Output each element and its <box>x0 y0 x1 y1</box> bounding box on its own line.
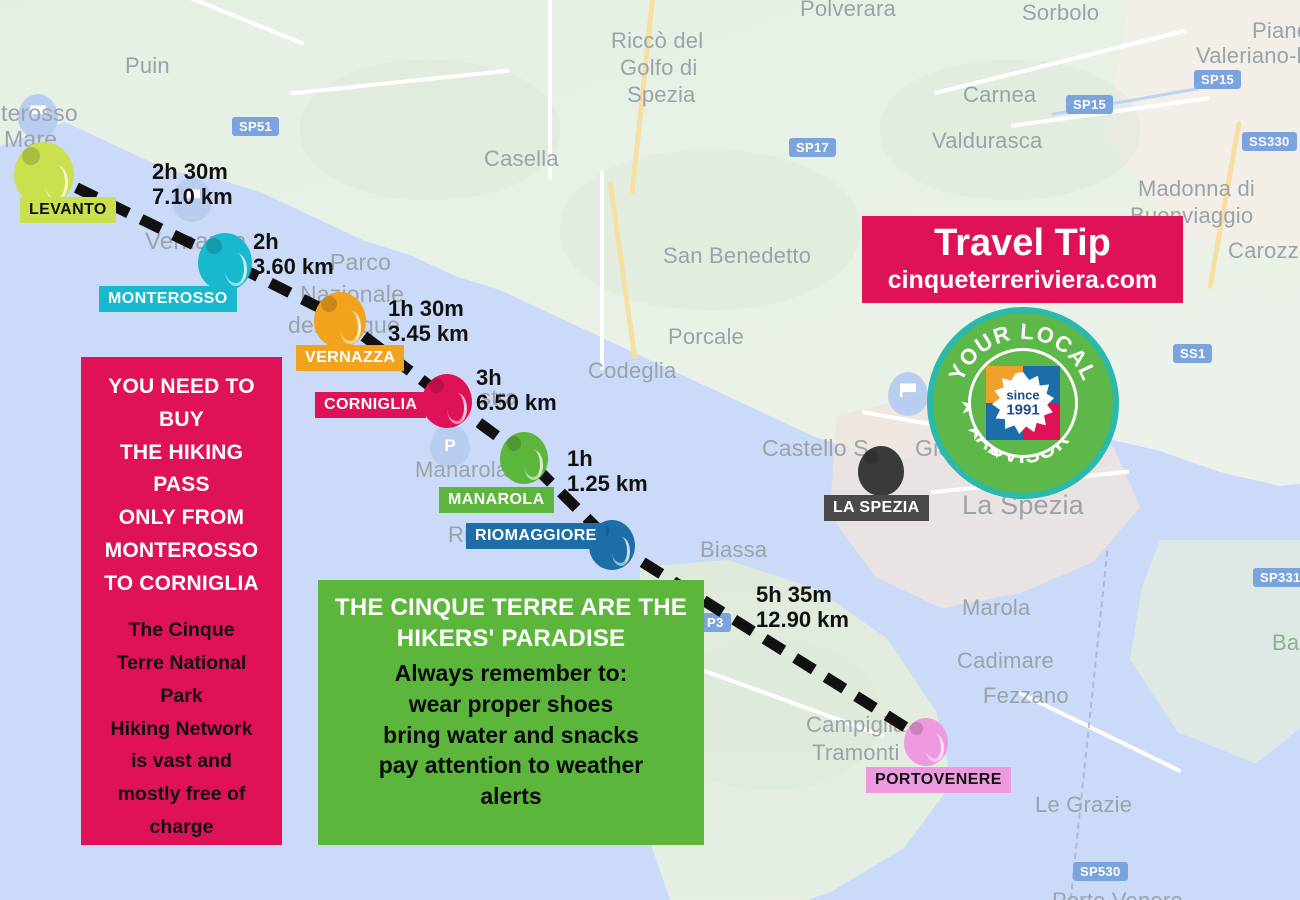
map-place-label: Piano <box>1252 18 1300 44</box>
road-shield: P3 <box>700 613 731 632</box>
town-marker-corniglia[interactable] <box>422 374 472 428</box>
hiking-pass-heading-line: YOU NEED TO <box>91 371 272 404</box>
poi-marker-icon <box>888 372 928 416</box>
hiking-pass-body-line: is vast and <box>91 745 272 778</box>
leg-distance-label: 3h6.50 km <box>476 366 557 415</box>
la-spezia-label[interactable]: LA SPEZIA <box>824 495 929 521</box>
marker-gloss <box>429 378 444 393</box>
leg-distance-label: 2h3.60 km <box>253 230 334 279</box>
map-place-label: Campiglia <box>806 712 906 738</box>
hill-shading-1 <box>560 150 860 310</box>
road-shield: SS1 <box>1173 344 1212 363</box>
hikers-paradise-heading: THE CINQUE TERRE ARE THEHIKERS' PARADISE <box>326 593 696 654</box>
marker-shine <box>926 734 944 762</box>
road-shield: SP530 <box>1073 862 1128 881</box>
la-spezia-marker[interactable] <box>858 446 904 496</box>
travel-tip-box[interactable]: Travel Tip cinqueterreriviera.com <box>862 216 1183 303</box>
hikers-paradise-body-line: Always remember to: <box>326 658 696 689</box>
marker-shine <box>45 165 68 201</box>
leg-distance: 12.90 km <box>756 608 849 633</box>
marker-shine <box>340 311 361 343</box>
hill-shading-2 <box>300 60 560 200</box>
travel-tip-title: Travel Tip <box>868 224 1177 263</box>
map-place-label: nterosso <box>0 100 78 127</box>
leg-distance-label: 5h 35m12.90 km <box>756 583 849 632</box>
map-place-label: Parco <box>330 249 391 276</box>
map-place-label: Codeglia <box>588 358 676 384</box>
town-label-portovenere[interactable]: PORTOVENERE <box>866 767 1011 793</box>
road-shield: SS330 <box>1242 132 1297 151</box>
hikers-paradise-body-line: bring water and snacks <box>326 720 696 751</box>
map-place-label: Spezia <box>627 82 695 108</box>
hiking-pass-heading-line: PASS <box>91 469 272 502</box>
map-place-label: Puin <box>125 53 170 79</box>
road-shield: SP51 <box>232 117 279 136</box>
leg-distance-label: 1h1.25 km <box>567 447 648 496</box>
map-place-label: Casella <box>484 146 559 172</box>
hikers-paradise-body: Always remember to:wear proper shoesbrin… <box>326 658 696 811</box>
leg-distance: 3.45 km <box>388 322 469 347</box>
leg-time: 1h <box>567 447 648 472</box>
marker-gloss <box>22 147 40 165</box>
hiking-pass-body-line: The Cinque <box>91 614 272 647</box>
map-place-label: Castello S. <box>762 435 875 462</box>
map-place-label: Manarola <box>415 457 508 483</box>
badge-since-label: since <box>1006 388 1039 402</box>
map-place-label: Fezzano <box>983 683 1069 709</box>
marker-gloss <box>910 722 923 735</box>
town-label-monterosso[interactable]: MONTEROSSO <box>99 286 237 312</box>
map-place-label: Polverara <box>800 0 896 22</box>
badge-since-text: since 1991 <box>1006 388 1039 417</box>
map-place-label: Le Grazie <box>1035 792 1132 818</box>
hikers-paradise-box: THE CINQUE TERRE ARE THEHIKERS' PARADISE… <box>318 580 704 845</box>
town-label-manarola[interactable]: MANAROLA <box>439 487 554 513</box>
marker-gloss <box>321 296 337 312</box>
hikers-paradise-body-line: alerts <box>326 781 696 812</box>
hiking-pass-heading-line: THE HIKING <box>91 437 272 470</box>
road-shield: SP15 <box>1194 70 1241 89</box>
hiking-pass-body: The CinqueTerre NationalParkHiking Netwo… <box>91 614 272 843</box>
hiking-pass-body-line: charge <box>91 811 272 844</box>
map-place-label: La Spezia <box>962 490 1084 521</box>
leg-distance: 1.25 km <box>567 472 648 497</box>
hiking-pass-heading-line: MONTEROSSO <box>91 535 272 568</box>
badge-since-year: 1991 <box>1006 402 1039 418</box>
hiking-pass-body-line: Terre National <box>91 647 272 680</box>
town-marker-monterosso[interactable] <box>198 233 252 291</box>
leg-time: 5h 35m <box>756 583 849 608</box>
map-place-label: Riccò del <box>611 28 703 54</box>
hiking-pass-heading-line: ONLY FROM <box>91 502 272 535</box>
badge-inner-circle: since 1991 <box>971 351 1075 455</box>
marker-gloss <box>507 436 521 451</box>
hiking-pass-body-line: Park <box>91 680 272 713</box>
leg-distance-label: 1h 30m3.45 km <box>388 297 469 346</box>
your-local-advisor-badge[interactable]: YOUR LOCAL ADVISOR ★ ★ ★ since 1991 <box>933 313 1113 493</box>
hiking-pass-heading: YOU NEED TOBUYTHE HIKINGPASSONLY FROMMON… <box>91 371 272 600</box>
hiking-pass-info-box: YOU NEED TOBUYTHE HIKINGPASSONLY FROMMON… <box>81 357 282 845</box>
map-infographic: PuinnterossoMareVernazzaParcoNazionalede… <box>0 0 1300 900</box>
town-label-levanto[interactable]: LEVANTO <box>20 197 116 223</box>
leg-distance: 3.60 km <box>253 255 334 280</box>
marker-shine <box>447 393 467 424</box>
leg-time: 2h 30m <box>152 160 233 185</box>
marker-shine <box>225 253 246 286</box>
hiking-pass-body-line: Hiking Network <box>91 713 272 746</box>
leg-time: 3h <box>476 366 557 391</box>
map-place-label: Carozzo <box>1228 238 1300 264</box>
map-place-label: Sorbolo <box>1022 0 1099 26</box>
hiking-pass-body-line: mostly free of <box>91 778 272 811</box>
hikers-paradise-body-line: pay attention to weather <box>326 750 696 781</box>
map-place-label: Carnea <box>963 82 1036 108</box>
hikers-paradise-heading-line: HIKERS' PARADISE <box>326 624 696 655</box>
marker-gloss <box>206 238 222 254</box>
map-place-label: San Benedetto <box>663 243 811 269</box>
map-place-label: Ba <box>1272 630 1299 656</box>
leg-time: 1h 30m <box>388 297 469 322</box>
map-place-label: Golfo di <box>620 55 697 81</box>
leg-distance: 7.10 km <box>152 185 233 210</box>
map-place-label: Porcale <box>668 324 744 350</box>
marker-shine <box>612 537 631 566</box>
town-label-riomaggiore[interactable]: RIOMAGGIORE <box>466 523 606 549</box>
map-place-label: Madonna di <box>1138 176 1255 202</box>
hikers-paradise-body-line: wear proper shoes <box>326 689 696 720</box>
hikers-paradise-heading-line: THE CINQUE TERRE ARE THE <box>326 593 696 624</box>
road-shield: SP17 <box>789 138 836 157</box>
hiking-pass-heading-line: TO CORNIGLIA <box>91 568 272 601</box>
marker-gloss <box>864 450 878 464</box>
map-place-label: Tramonti <box>812 740 900 766</box>
town-marker-vernazza[interactable] <box>314 292 366 348</box>
marker-shine <box>524 450 543 480</box>
town-marker-portovenere[interactable] <box>904 718 948 766</box>
leg-distance: 6.50 km <box>476 391 557 416</box>
town-label-corniglia[interactable]: CORNIGLIA <box>315 392 426 418</box>
leg-distance-label: 2h 30m7.10 km <box>152 160 233 209</box>
map-place-label: Valeriano-l <box>1196 43 1300 69</box>
map-place-label: Valdurasca <box>932 128 1042 154</box>
town-marker-manarola[interactable] <box>500 432 548 484</box>
hiking-pass-heading-line: BUY <box>91 404 272 437</box>
map-place-label: Biassa <box>700 537 767 563</box>
town-label-vernazza[interactable]: VERNAZZA <box>296 345 404 371</box>
road-shield: SP331 <box>1253 568 1300 587</box>
map-place-label: Porto Venere <box>1052 888 1183 900</box>
map-place-label: Marola <box>962 595 1030 621</box>
travel-tip-website[interactable]: cinqueterreriviera.com <box>868 267 1177 295</box>
leg-time: 2h <box>253 230 334 255</box>
map-place-label: Cadimare <box>957 648 1054 674</box>
road-segment <box>600 170 604 370</box>
road-shield: SP15 <box>1066 95 1113 114</box>
